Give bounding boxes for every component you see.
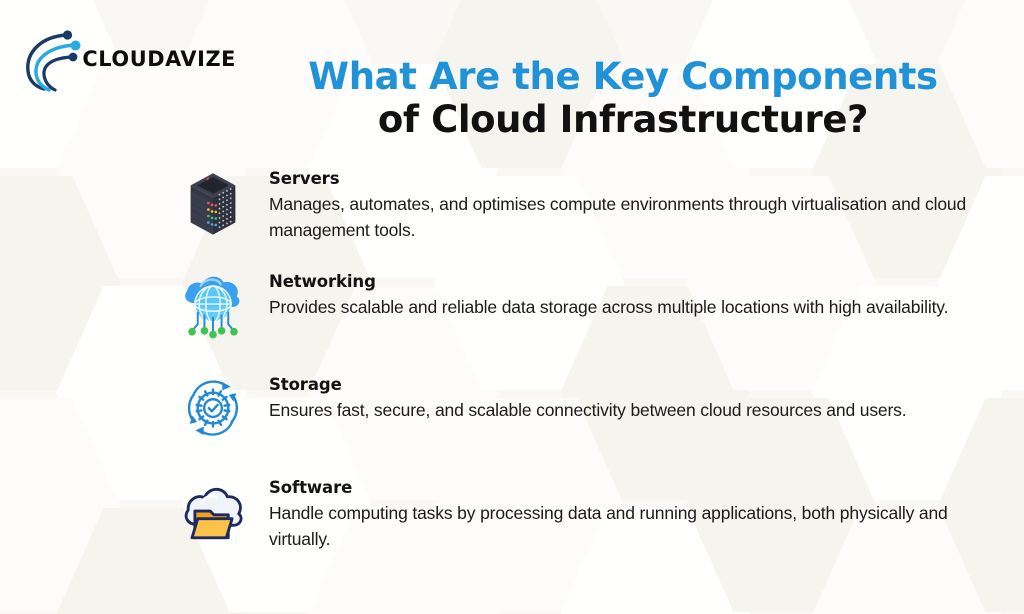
gear-checkmark-cycle-icon [170, 366, 256, 452]
list-item-description: Ensures fast, secure, and scalable conne… [269, 398, 907, 424]
list-item-body: Servers Manages, automates, and optimise… [269, 158, 989, 243]
page-title: What Are the Key Components of Cloud Inf… [228, 55, 1018, 141]
list-item-body: Networking Provides scalable and reliabl… [269, 261, 948, 321]
list-item-description: Handle computing tasks by processing dat… [269, 501, 989, 552]
page-title-line-1: What Are the Key Components [228, 55, 1018, 98]
list-item-networking: Networking Provides scalable and reliabl… [0, 261, 1024, 364]
brand-logo-text: CLOUDAVIZE [82, 47, 236, 72]
cloud-folder-icon [170, 469, 256, 555]
list-item-body: Software Handle computing tasks by proce… [269, 467, 989, 552]
server-rack-icon [170, 160, 256, 246]
list-item-body: Storage Ensures fast, secure, and scalab… [269, 364, 907, 424]
component-list: Servers Manages, automates, and optimise… [0, 158, 1024, 570]
page-title-line-2: of Cloud Infrastructure? [228, 98, 1018, 141]
list-item-servers: Servers Manages, automates, and optimise… [0, 158, 1024, 261]
list-item-software: Software Handle computing tasks by proce… [0, 467, 1024, 570]
cloudavize-swoosh-logo-icon [22, 25, 84, 93]
list-item-description: Manages, automates, and optimises comput… [269, 192, 989, 243]
brand-logo[interactable]: CLOUDAVIZE [22, 18, 222, 100]
list-item-title: Software [269, 478, 989, 497]
list-item-title: Storage [269, 375, 907, 394]
infographic-canvas: CLOUDAVIZE What Are the Key Components o… [0, 0, 1024, 614]
list-item-title: Networking [269, 272, 948, 291]
list-item-description: Provides scalable and reliable data stor… [269, 295, 948, 321]
list-item-title: Servers [269, 169, 989, 188]
cloud-network-globe-icon [170, 263, 256, 349]
list-item-storage: Storage Ensures fast, secure, and scalab… [0, 364, 1024, 467]
